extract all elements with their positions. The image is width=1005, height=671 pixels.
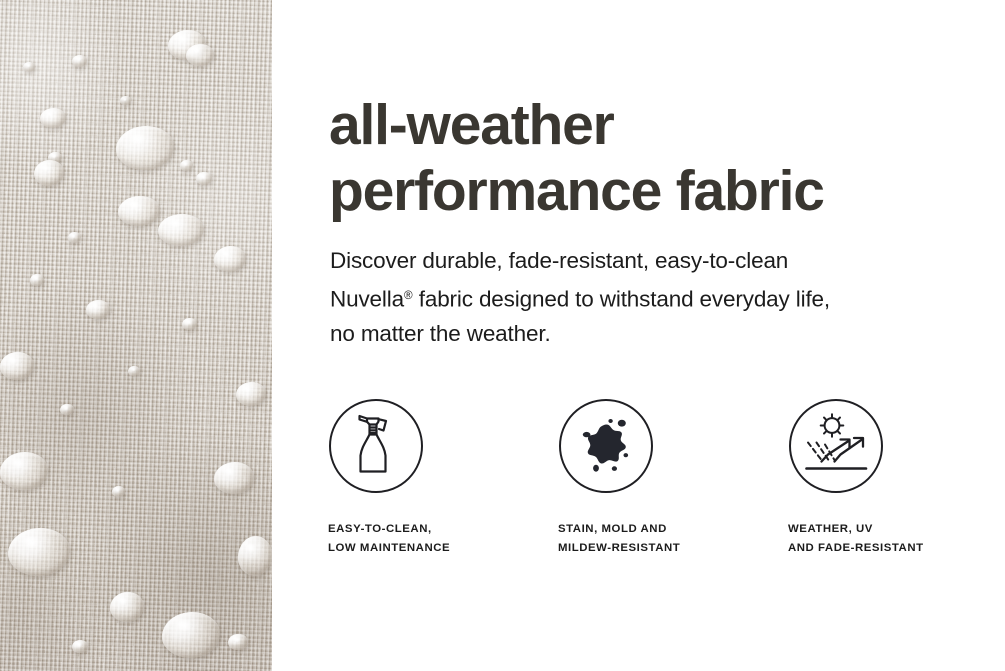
page-title: all-weather performance fabric bbox=[329, 92, 989, 224]
brand-name: Nuvella bbox=[330, 286, 404, 311]
content-panel: all-weather performance fabric Discover … bbox=[272, 0, 1005, 671]
stain-splat-icon bbox=[558, 398, 654, 494]
body-line-2: fabric designed to withstand everyday li… bbox=[413, 286, 830, 311]
body-line-3: no matter the weather. bbox=[330, 321, 551, 346]
feature-caption: Weather, UV and fade-resistant bbox=[788, 494, 1005, 558]
feature-item-stain-resistant: Stain, mold and mildew-resistant bbox=[558, 398, 788, 558]
trademark-symbol: ® bbox=[404, 289, 413, 302]
promo-banner: all-weather performance fabric Discover … bbox=[0, 0, 1005, 671]
feature-item-easy-to-clean: Easy-to-clean, low maintenance bbox=[328, 398, 558, 558]
feature-list: Easy-to-clean, low maintenance bbox=[328, 398, 1005, 568]
spray-bottle-icon bbox=[328, 398, 424, 494]
sun-uv-reflect-icon bbox=[788, 398, 884, 494]
feature-caption: Stain, mold and mildew-resistant bbox=[558, 494, 788, 558]
body-line-1: Discover durable, fade-resistant, easy-t… bbox=[330, 248, 788, 273]
fabric-photo bbox=[0, 0, 272, 671]
body-copy: Discover durable, fade-resistant, easy-t… bbox=[330, 243, 970, 351]
feature-caption: Easy-to-clean, low maintenance bbox=[328, 494, 558, 558]
feature-item-uv-resistant: Weather, UV and fade-resistant bbox=[788, 398, 1005, 558]
